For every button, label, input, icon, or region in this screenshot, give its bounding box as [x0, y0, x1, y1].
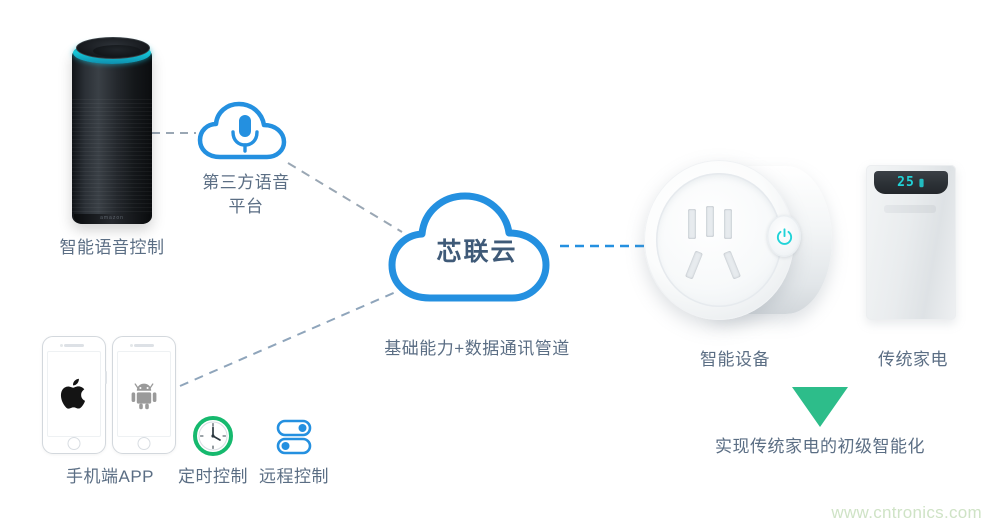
mobile-phones-group: [42, 336, 178, 452]
phone-camera: [130, 344, 133, 347]
iphone-device: [42, 336, 106, 454]
voice-platform-label-line1: 第三方语音: [186, 172, 306, 193]
green-chevron-down-icon: [789, 383, 851, 431]
socket-slot-angled-right: [723, 251, 741, 280]
phone-home-button: [138, 437, 151, 450]
phone-screen-android: [117, 351, 171, 437]
cloud-icon: 芯联云: [386, 188, 568, 306]
android-device: [112, 336, 176, 454]
apple-icon: [59, 376, 89, 412]
appliance-body: 25: [866, 165, 956, 320]
phone-speaker: [64, 344, 84, 347]
appliance-panel-bar: [884, 205, 936, 213]
diagram-canvas: amazon 智能语音控制 第三方语音 平台 芯联云 基础能力+数据通讯管道: [0, 0, 1000, 532]
socket-slot-left: [688, 209, 696, 239]
toggle-switches-icon: [274, 418, 314, 456]
cloud-caption: 基础能力+数据通讯管道: [360, 334, 594, 359]
clock-icon: [192, 415, 234, 457]
socket-slot-right: [724, 209, 732, 239]
timer-control-label: 定时控制: [173, 462, 253, 487]
socket-slot-middle: [706, 206, 714, 237]
phone-camera: [60, 344, 63, 347]
speaker-top: [76, 37, 150, 59]
phone-speaker: [134, 344, 154, 347]
speaker-top-inner: [93, 45, 141, 57]
phone-screen-apple: [47, 351, 101, 437]
smart-plug-icon: [644, 160, 840, 325]
phone-side-button: [105, 371, 107, 384]
smart-speaker-label: 智能语音控制: [24, 233, 200, 258]
water-heater-icon: 25: [866, 165, 956, 320]
plug-socket-face: [656, 173, 782, 307]
smart-device-label: 智能设备: [660, 345, 810, 370]
power-icon[interactable]: [767, 215, 801, 257]
mobile-app-label: 手机端APP: [40, 462, 180, 487]
appliance-display: 25: [874, 171, 948, 194]
speaker-brand-text: amazon: [100, 215, 124, 221]
voice-platform-label-line2: 平台: [186, 196, 306, 217]
cloud-name: 芯联云: [386, 232, 568, 268]
android-icon: [128, 378, 160, 410]
cloud-microphone-icon: [196, 99, 296, 165]
smart-speaker-icon: amazon: [72, 34, 152, 224]
appliance-temperature: 25: [897, 175, 915, 190]
traditional-appliance-label: 传统家电: [848, 345, 978, 370]
remote-control-label: 远程控制: [254, 462, 334, 487]
appliance-indicator-icon: [918, 178, 925, 188]
speaker-body: [72, 48, 152, 224]
outcome-text: 实现传统家电的初级智能化: [695, 432, 945, 457]
phone-home-button: [68, 437, 81, 450]
watermark: www.cntronics.com: [831, 503, 982, 523]
socket-slot-angled-left: [685, 251, 703, 280]
